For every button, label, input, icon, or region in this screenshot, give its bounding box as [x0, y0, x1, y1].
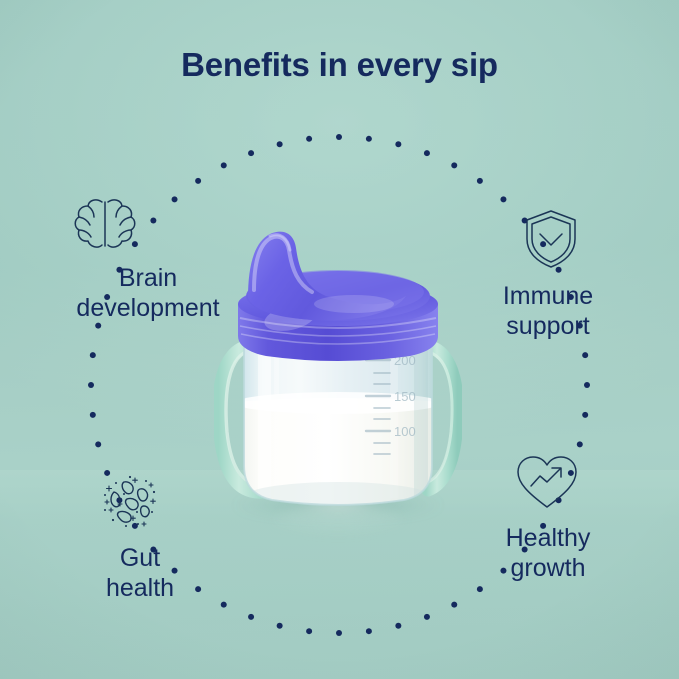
shield-check-icon-wrap — [429, 208, 673, 270]
svg-text:150: 150 — [394, 389, 416, 404]
circle-dot — [477, 586, 483, 592]
microbiome-icon-wrap — [0, 470, 260, 532]
circle-dot — [395, 623, 401, 629]
circle-dot — [500, 196, 506, 202]
brain-icon — [72, 196, 138, 252]
measurement-labels: 200 150 100 — [394, 353, 416, 439]
circle-dot — [90, 412, 96, 418]
image-canvas: 200 150 100 — [0, 0, 679, 679]
circle-dot — [277, 623, 283, 629]
circle-dot — [336, 134, 342, 140]
circle-dot — [395, 141, 401, 147]
circle-dot — [366, 136, 372, 142]
heart-growth-icon-wrap — [421, 452, 673, 512]
circle-dot — [424, 614, 430, 620]
circle-dot — [584, 382, 590, 388]
circle-dot — [306, 136, 312, 142]
circle-dot — [277, 141, 283, 147]
heart-growth-icon — [514, 452, 580, 512]
benefit-immune-support: Immune support — [423, 208, 673, 341]
circle-dot — [477, 178, 483, 184]
circle-dot — [451, 602, 457, 608]
brain-icon-wrap — [0, 196, 288, 252]
benefit-growth-label: Healthy growth — [423, 524, 673, 583]
circle-dot — [336, 630, 342, 636]
circle-dot — [582, 352, 588, 358]
benefit-healthy-growth: Healthy growth — [423, 452, 673, 583]
circle-dot — [577, 441, 583, 447]
circle-dot — [582, 412, 588, 418]
circle-dot — [248, 614, 254, 620]
circle-dot — [95, 441, 101, 447]
circle-dot — [195, 178, 201, 184]
microbiome-icon — [99, 470, 161, 532]
circle-dot — [424, 150, 430, 156]
cup-body: 200 150 100 — [235, 336, 441, 516]
circle-dot — [88, 382, 94, 388]
svg-text:100: 100 — [394, 424, 416, 439]
benefit-gut-label: Gut health — [20, 544, 260, 603]
circle-dot — [306, 628, 312, 634]
circle-dot — [366, 628, 372, 634]
circle-dot — [451, 162, 457, 168]
benefit-brain-development: Brain development — [8, 196, 288, 323]
circle-dot — [90, 352, 96, 358]
page-title: Benefits in every sip — [0, 46, 679, 84]
circle-dot — [95, 323, 101, 329]
circle-dot — [221, 162, 227, 168]
benefit-immune-label: Immune support — [423, 282, 673, 341]
shield-check-icon — [523, 208, 579, 270]
circle-dot — [248, 150, 254, 156]
benefit-brain-label: Brain development — [8, 264, 288, 323]
benefit-gut-health: Gut health — [20, 470, 260, 603]
